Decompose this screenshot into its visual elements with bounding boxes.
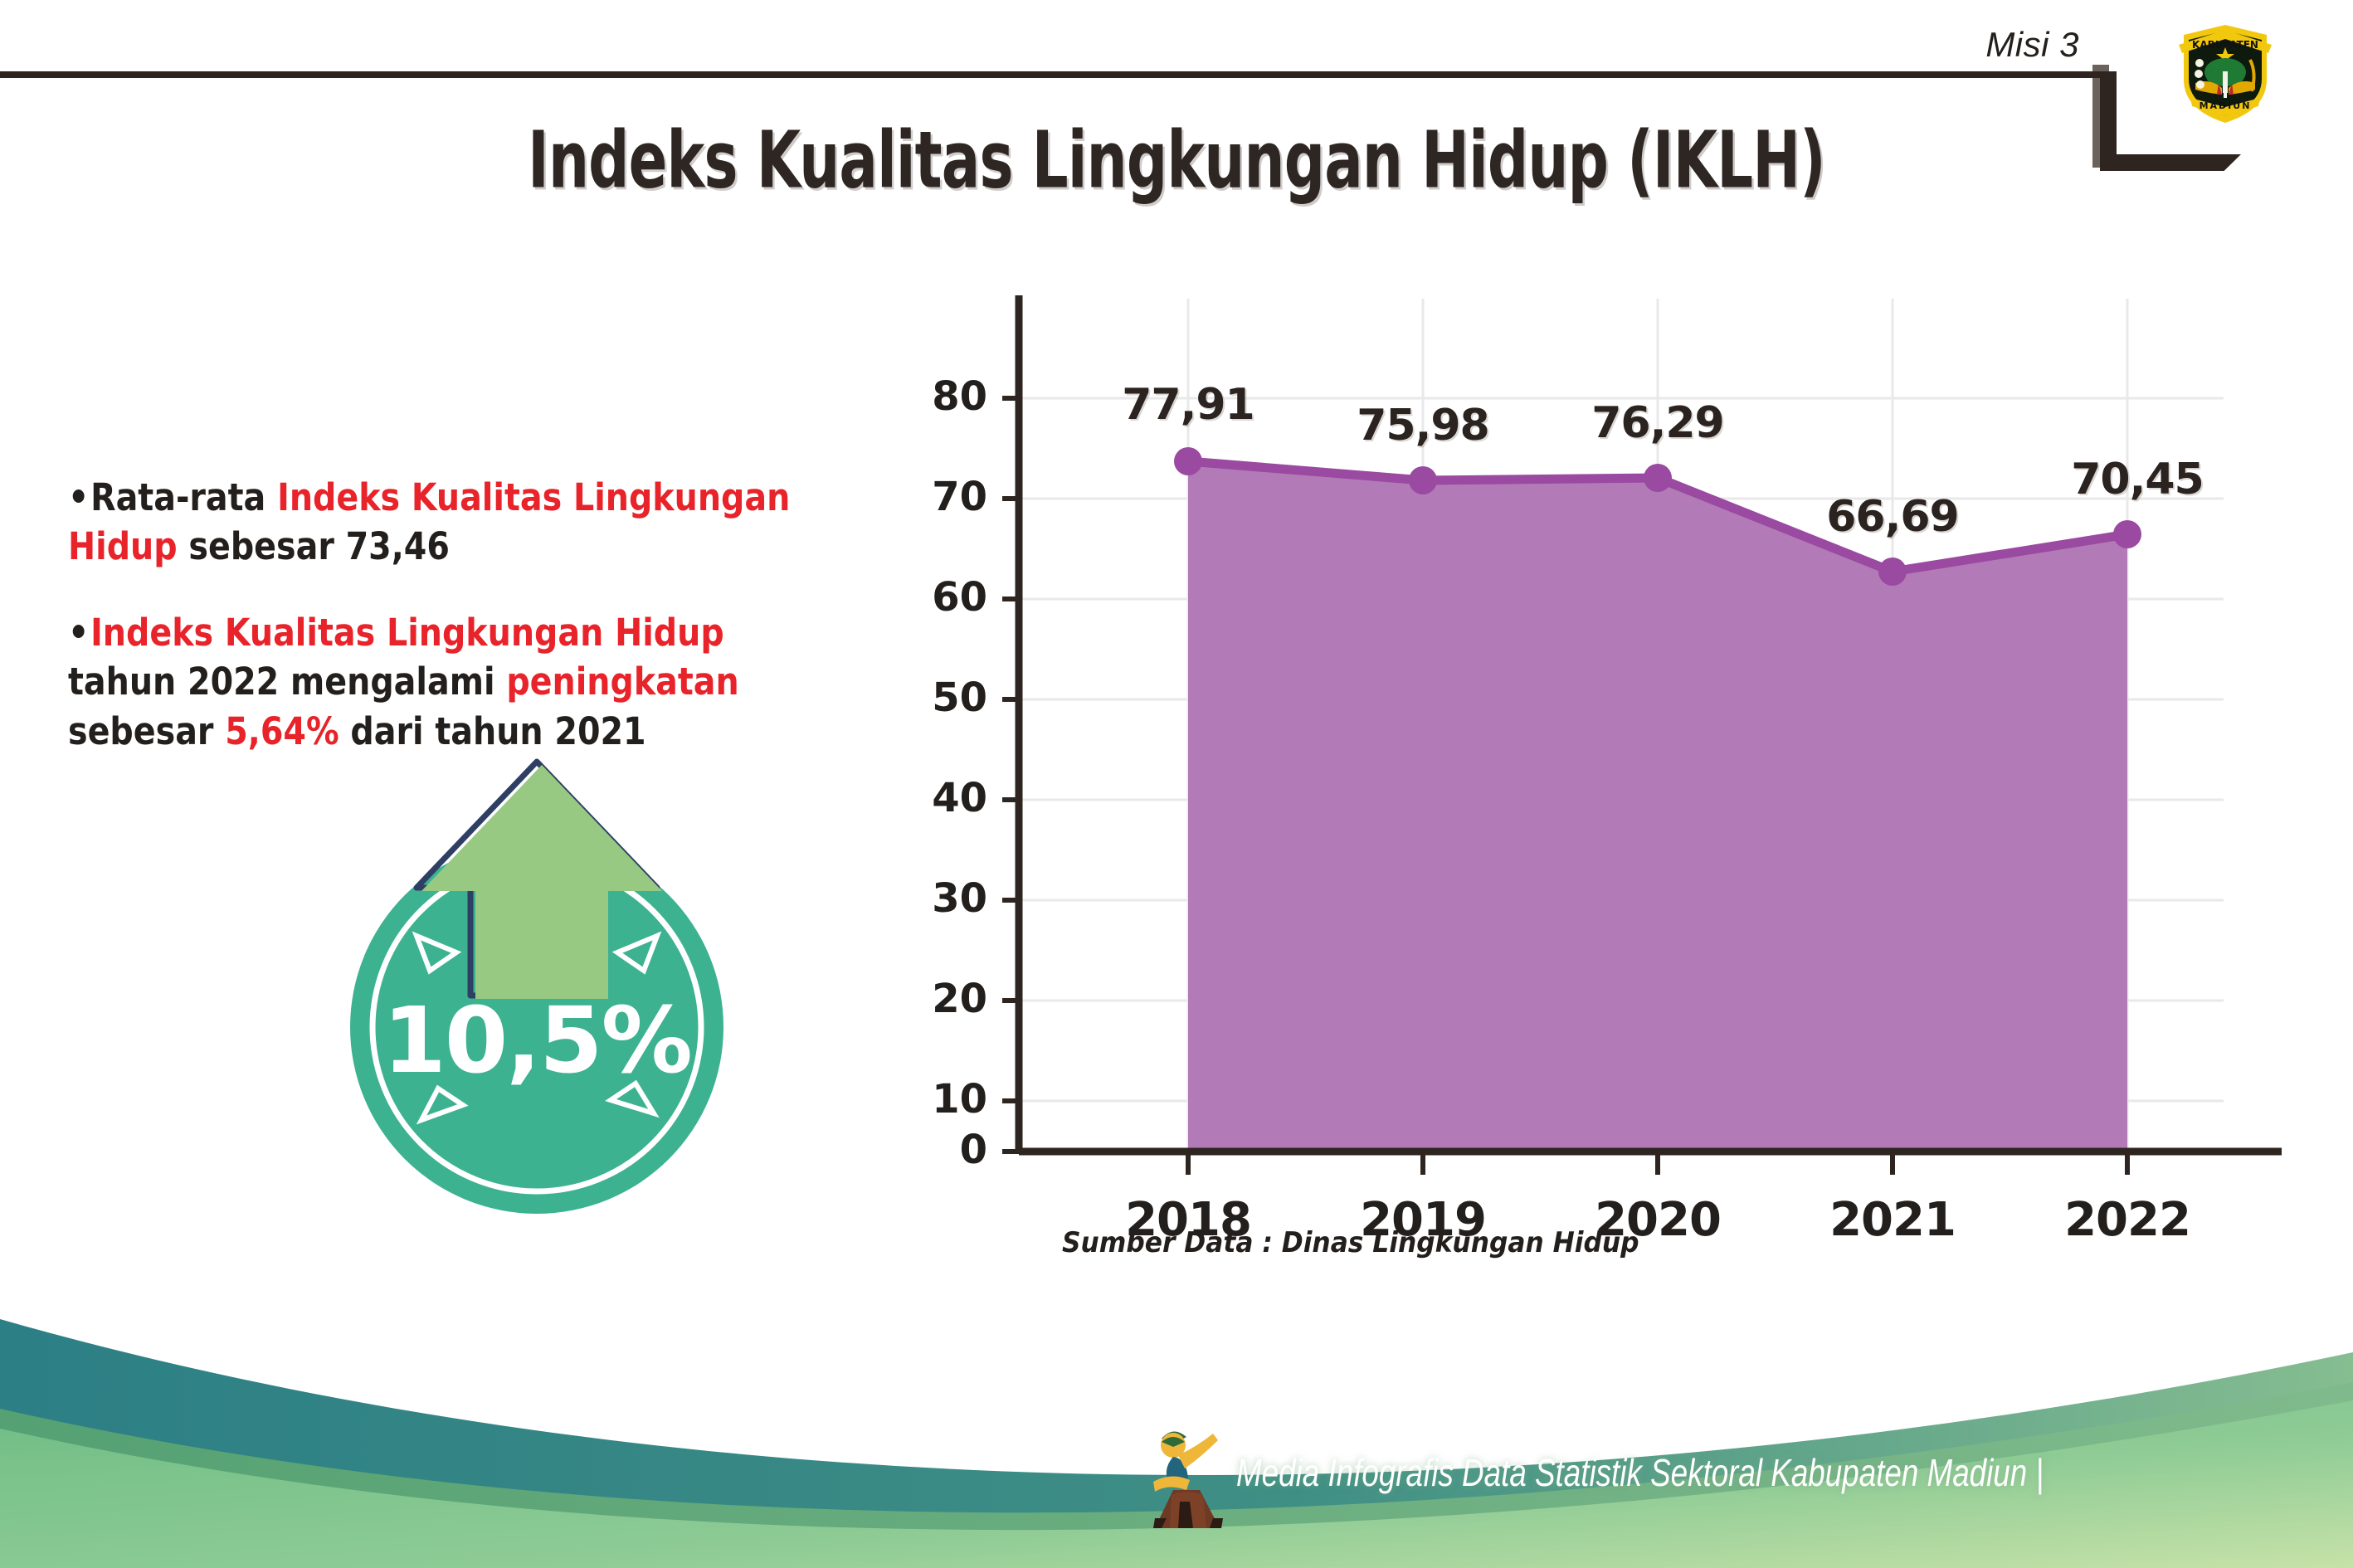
chart-source-note: Sumber Data : Dinas Lingkungan Hidup	[1062, 1226, 1639, 1259]
bullet-dot-icon: •	[68, 611, 90, 655]
misi-label: Misi 3	[1985, 25, 2079, 65]
x-tick-label-2022: 2022	[2036, 1193, 2219, 1247]
increase-badge: 10,5%	[332, 747, 763, 1228]
y-tick-label-50: 50	[896, 674, 987, 721]
bullet-2-part-5: 5,64%	[225, 709, 339, 753]
x-tick-label-2021: 2021	[1801, 1193, 1984, 1247]
data-label-2019: 75,98	[1323, 401, 1522, 450]
y-tick-label-70: 70	[896, 474, 987, 520]
y-tick-label-30: 30	[896, 875, 987, 922]
bullet-2-part-4: sebesar	[68, 709, 225, 753]
y-tick-label-80: 80	[896, 373, 987, 420]
bullet-2-part-2: tahun 2022 mengalami	[68, 660, 506, 704]
y-tick-label-60: 60	[896, 574, 987, 621]
header-rule	[0, 71, 2107, 78]
svg-text:MADIUN: MADIUN	[2200, 100, 2252, 111]
bullet-1-part-1: Rata-rata	[90, 475, 277, 519]
y-tick-label-0: 0	[896, 1127, 987, 1173]
dancer-figure-logo-icon	[1137, 1419, 1236, 1535]
badge-value: 10,5%	[332, 987, 742, 1093]
iklh-area-chart: 80 70 60 50 40 30 20 10 0 2018 2019 2020…	[954, 274, 2282, 1269]
bullet-1-part-3: sebesar 73,46	[178, 524, 450, 568]
bullet-item-increase: •Indeks Kualitas Lingkungan Hidup tahun …	[68, 608, 827, 756]
bullet-dot-icon: •	[68, 475, 90, 519]
bullet-2-part-3: peningkatan	[506, 660, 738, 704]
kabupaten-madiun-emblem-icon: KABUPATEN MADIUN	[2167, 12, 2283, 128]
y-tick-label-10: 10	[896, 1076, 987, 1122]
y-tick-label-40: 40	[896, 775, 987, 821]
footer-caption: Media Infografis Data Statistik Sektoral…	[1236, 1450, 2044, 1495]
bullet-2-part-1: Indeks Kualitas Lingkungan Hidup	[90, 611, 724, 655]
y-tick-label-20: 20	[896, 976, 987, 1022]
bullet-item-average: •Rata-rata Indeks Kualitas Lingkungan Hi…	[68, 473, 827, 572]
chart-area-fill	[1188, 461, 2127, 1152]
data-label-2020: 76,29	[1558, 398, 1757, 448]
page-title: Indeks Kualitas Lingkungan Hidup (IKLH)	[212, 114, 2141, 206]
data-label-2022: 70,45	[2038, 455, 2237, 504]
data-label-2021: 66,69	[1793, 492, 1992, 542]
summary-bullets: •Rata-rata Indeks Kualitas Lingkungan Hi…	[68, 473, 931, 792]
data-label-2018: 77,91	[1089, 380, 1288, 430]
